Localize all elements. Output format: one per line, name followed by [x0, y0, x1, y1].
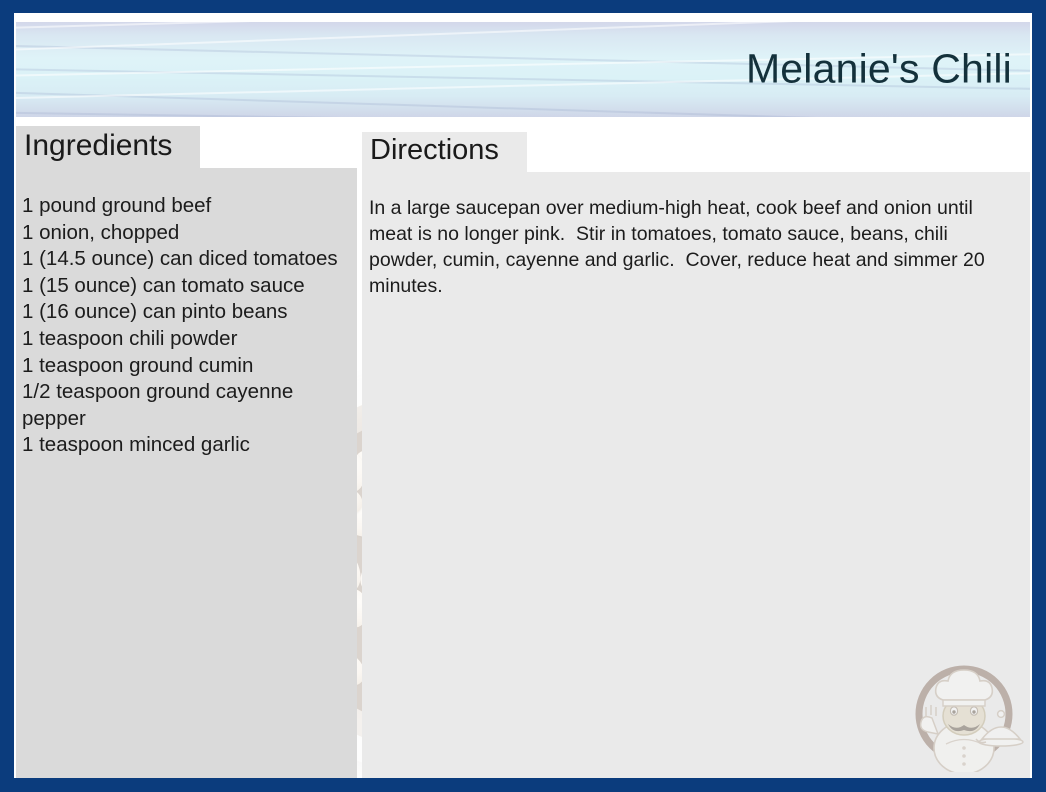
ingredient-item: 1/2 teaspoon ground cayenne pepper: [22, 379, 352, 432]
page-title: Melanie's Chili: [746, 45, 1012, 92]
ingredient-item: 1 pound ground beef: [22, 193, 352, 220]
recipe-slide: Melanie's Chili Ingredients 1 pound grou…: [0, 0, 1046, 792]
ingredient-item: 1 (16 ounce) can pinto beans: [22, 299, 352, 326]
slide-page: Melanie's Chili Ingredients 1 pound grou…: [14, 13, 1032, 778]
ingredient-item: 1 teaspoon ground cumin: [22, 353, 352, 380]
ingredient-item: 1 teaspoon chili powder: [22, 326, 352, 353]
directions-heading: Directions: [370, 134, 499, 167]
ingredient-item: 1 (15 ounce) can tomato sauce: [22, 273, 352, 300]
ingredients-list: 1 pound ground beef1 onion, chopped1 (14…: [22, 193, 352, 459]
banner-streak: [16, 110, 1030, 117]
directions-text: In a large saucepan over medium-high hea…: [369, 195, 1014, 299]
ingredient-item: 1 onion, chopped: [22, 220, 352, 247]
ingredient-item: 1 teaspoon minced garlic: [22, 432, 352, 459]
ingredients-heading: Ingredients: [24, 129, 172, 163]
title-banner: Melanie's Chili: [16, 22, 1030, 117]
ingredient-item: 1 (14.5 ounce) can diced tomatoes: [22, 246, 352, 273]
